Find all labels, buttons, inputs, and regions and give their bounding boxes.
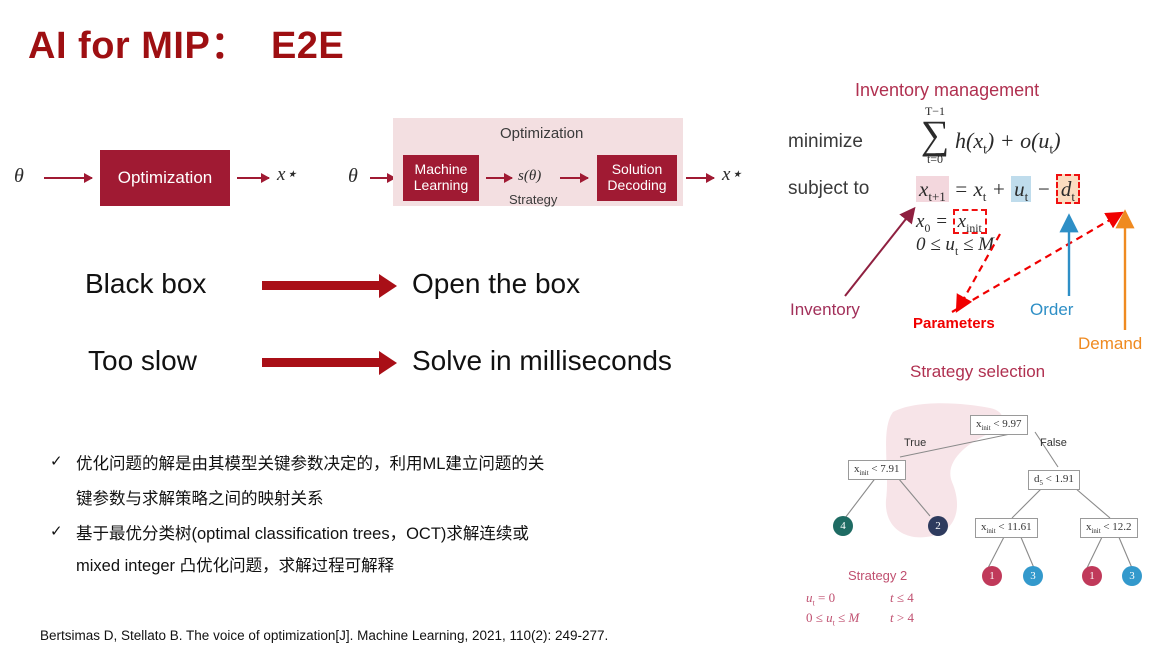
strategy2-line2-lhs: 0 ≤ ut ≤ M bbox=[806, 610, 859, 628]
tree-node-left: xinit < 7.91 bbox=[848, 460, 906, 480]
tree-node-root: xinit < 9.97 bbox=[970, 415, 1028, 435]
tree-leaf-value: 4 bbox=[840, 520, 846, 532]
tree-leaf: 3 bbox=[1122, 566, 1142, 586]
label-demand: Demand bbox=[1078, 334, 1142, 354]
tree-leaf-value: 3 bbox=[1030, 570, 1036, 582]
tree-leaf-value: 1 bbox=[1089, 570, 1095, 582]
tree-leaf: 1 bbox=[982, 566, 1002, 586]
strategy2-line1-rhs: t ≤ 4 bbox=[890, 590, 914, 606]
tree-node-right: d5 < 1.91 bbox=[1028, 470, 1080, 490]
tree-leaf-value: 1 bbox=[989, 570, 995, 582]
label-parameters: Parameters bbox=[913, 315, 995, 332]
tree-leaf-value: 2 bbox=[935, 520, 941, 532]
tree-branch-label-false: False bbox=[1040, 437, 1067, 449]
strategy-selection-title: Strategy selection bbox=[910, 362, 1045, 382]
parameters-pointer-arrow-2 bbox=[952, 214, 1120, 312]
tree-node-right-left: xinit < 11.61 bbox=[975, 518, 1038, 538]
tree-leaf: 3 bbox=[1023, 566, 1043, 586]
tree-node-right-right: xinit < 12.2 bbox=[1080, 518, 1138, 538]
strategy2-title: Strategy 2 bbox=[848, 568, 907, 583]
label-inventory: Inventory bbox=[790, 300, 860, 320]
tree-leaf: 1 bbox=[1082, 566, 1102, 586]
parameters-pointer-arrow-1 bbox=[958, 234, 1000, 309]
tree-branch-label-true: True bbox=[904, 437, 926, 449]
inventory-pointer-arrow bbox=[845, 210, 913, 296]
label-order: Order bbox=[1030, 300, 1073, 320]
tree-leaf: 4 bbox=[833, 516, 853, 536]
tree-leaf: 2 bbox=[928, 516, 948, 536]
tree-leaf-value: 3 bbox=[1129, 570, 1135, 582]
strategy2-line1-lhs: ut = 0 bbox=[806, 590, 835, 608]
strategy2-line2-rhs: t > 4 bbox=[890, 610, 914, 626]
